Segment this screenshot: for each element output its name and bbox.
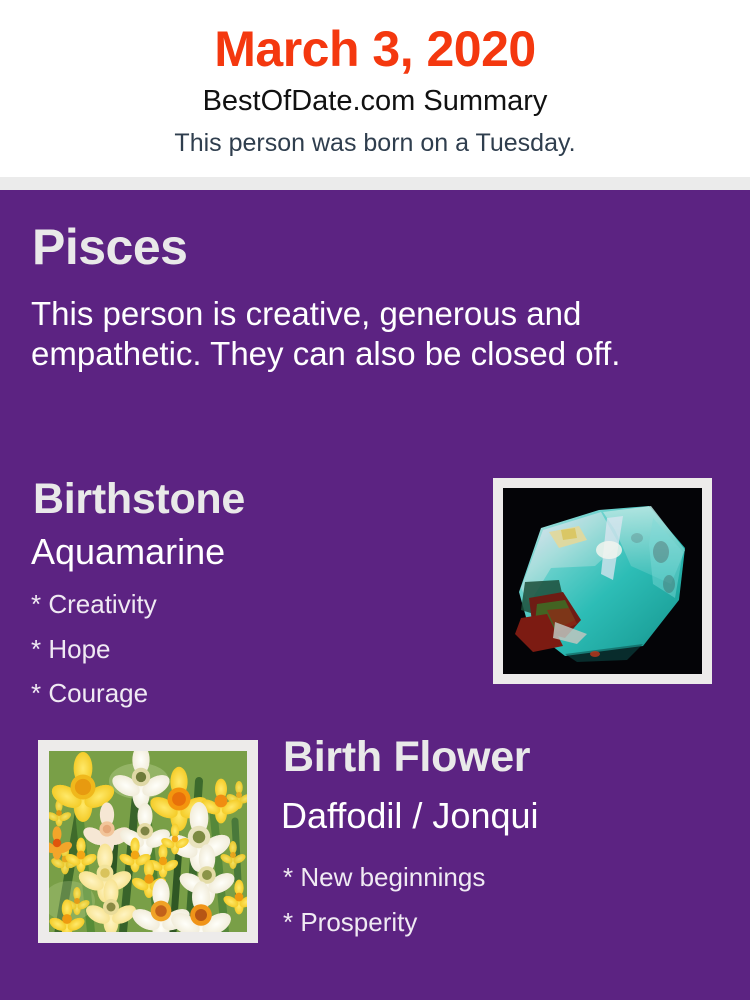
- birthstone-trait-list: * Creativity * Hope * Courage: [31, 582, 451, 716]
- header: March 3, 2020 BestOfDate.com Summary Thi…: [0, 0, 750, 177]
- list-item: * Creativity: [31, 582, 451, 627]
- daffodil-field-photo: [49, 751, 247, 932]
- site-name-subtitle: BestOfDate.com Summary: [0, 86, 750, 118]
- list-item: * Hope: [31, 627, 451, 672]
- aquamarine-crystal-photo: [503, 488, 702, 674]
- list-item: * New beginnings: [283, 855, 713, 900]
- zodiac-sign-title: Pisces: [32, 222, 187, 272]
- zodiac-description: This person is creative, generous and em…: [31, 294, 703, 375]
- birth-flower-trait-list: * New beginnings * Prosperity: [283, 855, 713, 944]
- page-title-date: March 3, 2020: [0, 22, 750, 76]
- list-item: * Prosperity: [283, 900, 713, 945]
- birth-flower-title: Birth Flower: [283, 736, 530, 779]
- birthstone-title: Birthstone: [33, 478, 245, 521]
- summary-page: March 3, 2020 BestOfDate.com Summary Thi…: [0, 0, 750, 1000]
- birthstone-name: Aquamarine: [31, 533, 225, 571]
- birth-flower-name: Daffodil / Jonqui: [281, 797, 539, 835]
- list-item: * Courage: [31, 671, 451, 716]
- weekday-statement: This person was born on a Tuesday.: [0, 130, 750, 158]
- header-divider: [0, 177, 750, 190]
